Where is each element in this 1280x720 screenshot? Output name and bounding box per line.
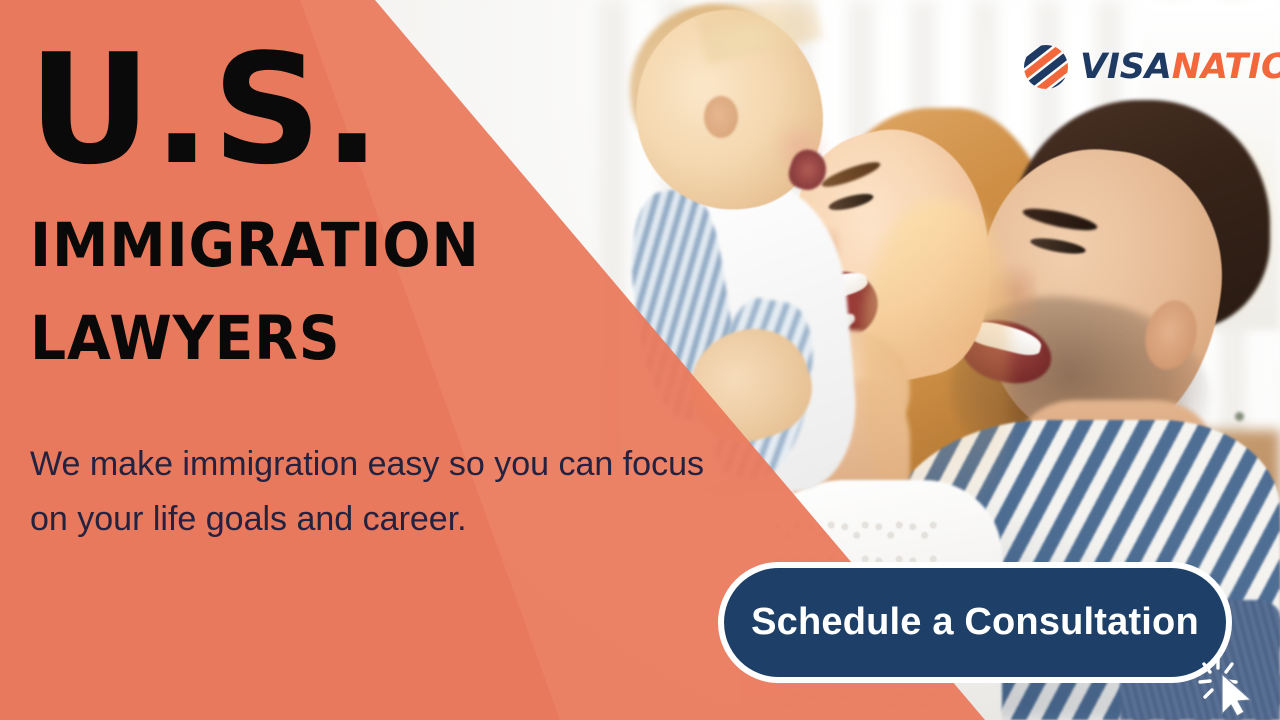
hero-subcopy: We make immigration easy so you can focu… <box>30 437 720 547</box>
mother-hair-highlight <box>860 200 1010 520</box>
logo-nation-text: NATION <box>1172 47 1280 87</box>
visanation-logo[interactable]: VISANATION <box>1022 42 1280 92</box>
logo-wordmark: VISANATION <box>1080 50 1280 85</box>
logo-visa-text: VISA <box>1080 47 1172 87</box>
headline-line-1: U.S. <box>28 34 382 186</box>
schedule-consultation-label: Schedule a Consultation <box>751 601 1199 644</box>
headline-line-3: LAWYERS <box>30 308 340 369</box>
baby-ear <box>704 96 738 138</box>
hero-banner: U.S. IMMIGRATION LAWYERS We make immigra… <box>0 0 1280 720</box>
striped-globe-icon <box>1022 43 1070 91</box>
schedule-consultation-button[interactable]: Schedule a Consultation <box>718 562 1232 683</box>
headline-line-2: IMMIGRATION <box>30 215 480 276</box>
